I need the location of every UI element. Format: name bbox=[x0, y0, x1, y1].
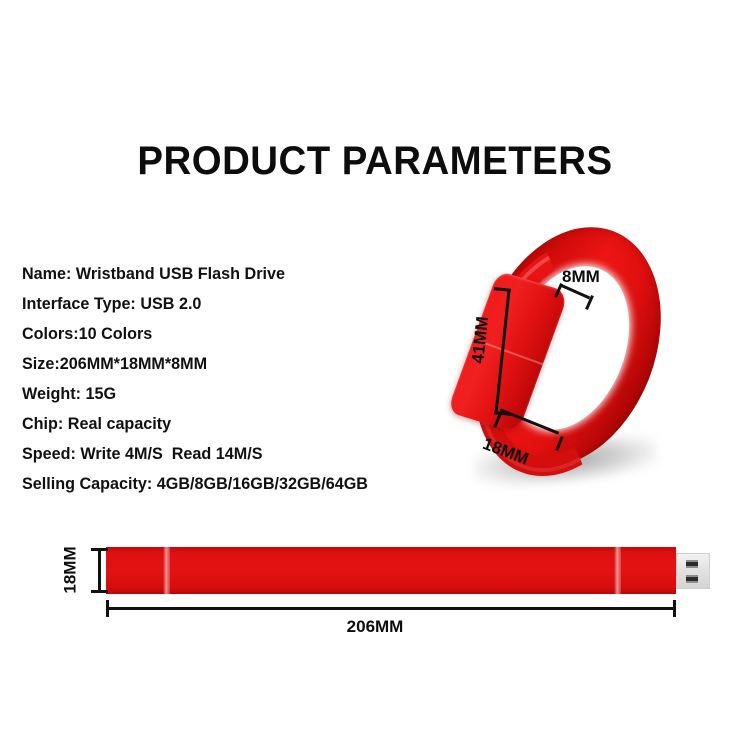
usb-contact-pad-bottom bbox=[686, 575, 698, 583]
wristband-strip bbox=[106, 547, 676, 594]
dimension-cap-18mm-strip-bottom bbox=[91, 590, 108, 593]
flat-wristband-figure: 18MM 206MM bbox=[0, 0, 750, 750]
strip-seam-left bbox=[163, 547, 170, 594]
dimension-cap-206mm-right bbox=[673, 600, 676, 617]
usb-connector-icon bbox=[676, 553, 710, 589]
dimension-label-18mm-strip: 18MM bbox=[61, 546, 81, 593]
dimension-cap-206mm-left bbox=[106, 600, 109, 617]
usb-contact-pad-top bbox=[686, 560, 698, 568]
dimension-label-206mm: 206MM bbox=[0, 617, 750, 637]
dimension-line-18mm-strip bbox=[98, 549, 101, 593]
dimension-line-206mm bbox=[107, 607, 675, 610]
strip-seam-right bbox=[614, 547, 621, 594]
product-parameters-page: PRODUCT PARAMETERS Name: Wristband USB F… bbox=[0, 0, 750, 750]
dimension-cap-18mm-strip-top bbox=[91, 548, 108, 551]
